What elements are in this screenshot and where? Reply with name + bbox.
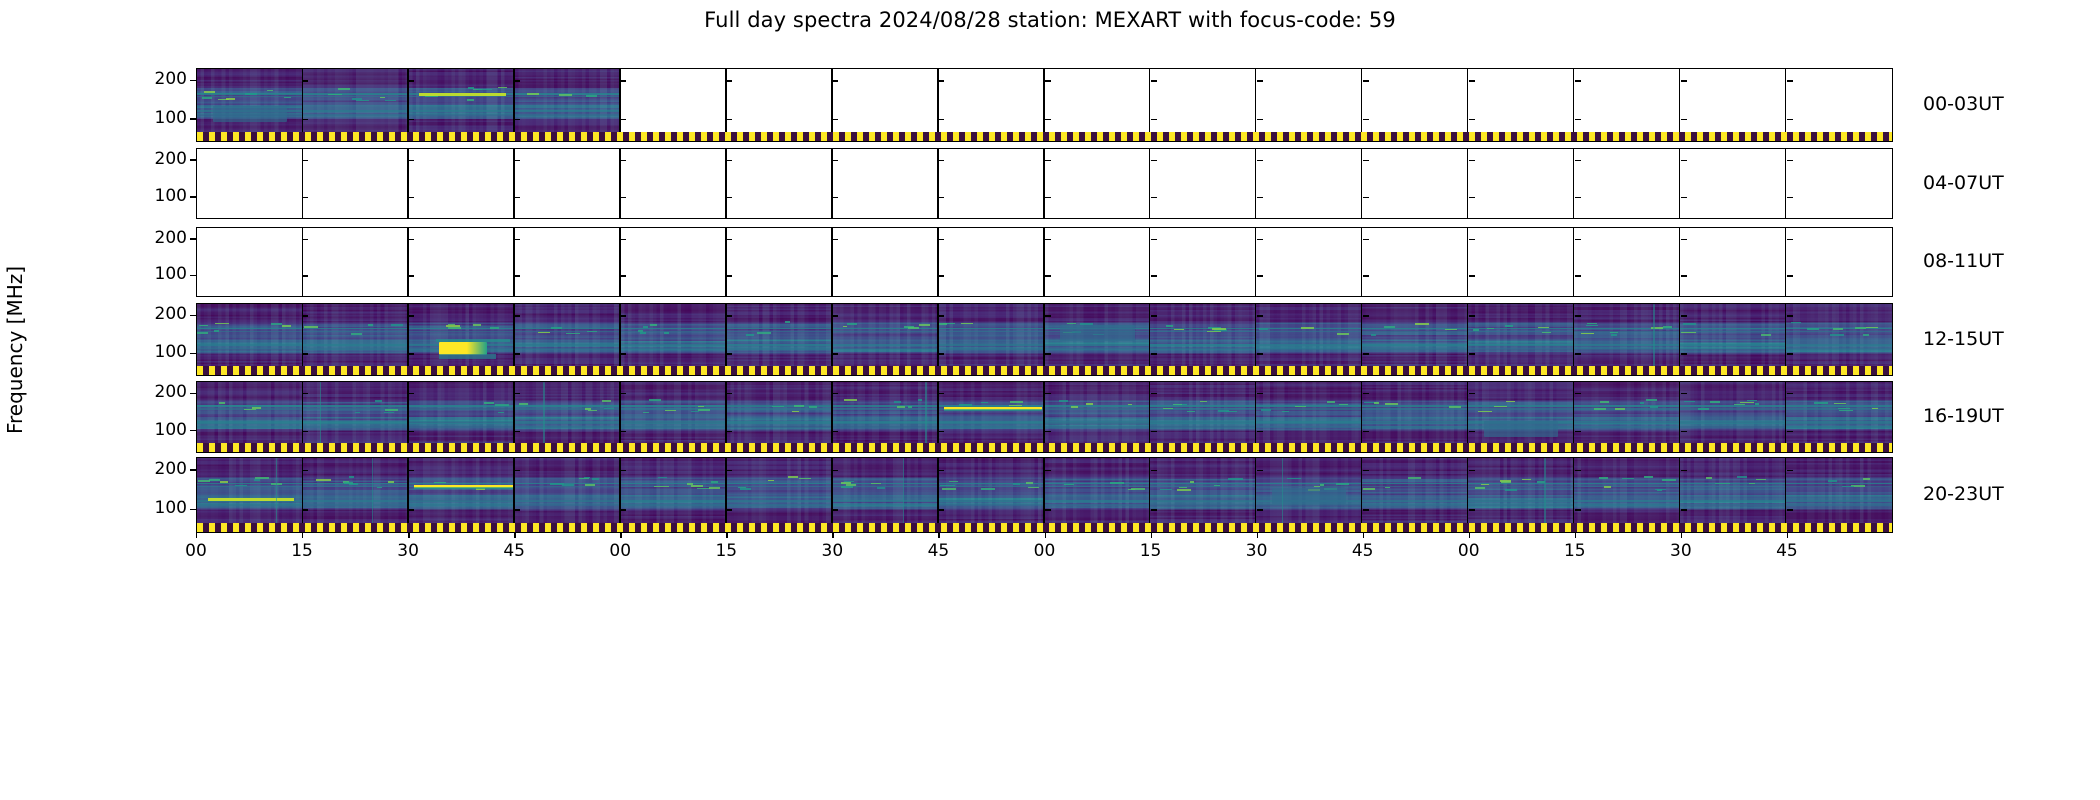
spectrogram-bands: [621, 304, 727, 375]
x-tick-label: 15: [1564, 541, 1586, 561]
segment-divider: [1679, 458, 1680, 532]
segment-divider: [513, 149, 514, 218]
row-frame: [196, 148, 1893, 219]
y-tick-mark-inner: [1151, 119, 1157, 120]
segment-divider: [937, 382, 938, 452]
spectrogram-bands: [939, 458, 1045, 532]
y-tick-mark-inner: [514, 160, 520, 161]
segment-divider: [513, 69, 514, 141]
spectrogram-bands: [303, 69, 409, 141]
y-tick-mark-inner: [726, 431, 732, 432]
spectrogram-bands: [1362, 382, 1468, 452]
y-tick-mark-inner: [1469, 275, 1475, 276]
y-tick-mark-inner: [1151, 431, 1157, 432]
spectrogram-segment[interactable]: [1574, 69, 1680, 141]
y-tick-mark-inner: [1045, 119, 1051, 120]
spectrogram-segment[interactable]: [1680, 382, 1786, 452]
y-tick-mark-inner: [1045, 509, 1051, 510]
spectrogram-segment[interactable]: [1786, 382, 1892, 452]
y-tick-mark-inner: [1151, 239, 1157, 240]
row-frame: [196, 227, 1893, 297]
y-tick-label: 200: [155, 149, 187, 169]
y-tick-mark-inner: [1681, 315, 1687, 316]
y-tick-mark-inner: [408, 160, 414, 161]
y-tick-mark-inner: [1575, 239, 1581, 240]
y-tick-mark-inner: [938, 509, 944, 510]
x-axis-tick: [832, 533, 833, 538]
spectrogram-segment[interactable]: [833, 228, 939, 296]
spectrogram-segment[interactable]: [409, 458, 515, 532]
segment-divider: [1149, 149, 1150, 218]
x-axis-tick: [620, 533, 621, 538]
spectrogram-segment[interactable]: [1362, 458, 1468, 532]
spectrogram-segment[interactable]: [515, 228, 621, 296]
spectrogram-segment[interactable]: [1045, 458, 1151, 532]
spectrogram-segment[interactable]: [1468, 228, 1574, 296]
y-tick-mark-inner: [408, 470, 414, 471]
spectrogram-segment[interactable]: [515, 304, 621, 375]
segment-divider: [513, 304, 514, 375]
spectrogram-bands: [1574, 382, 1680, 452]
spectrogram-segment[interactable]: [1786, 304, 1892, 375]
spectrogram-segment[interactable]: [1256, 382, 1362, 452]
y-tick-mark-inner: [302, 353, 308, 354]
y-tick-mark-inner: [1469, 80, 1475, 81]
y-tick-mark-inner: [938, 80, 944, 81]
spectrogram-bands: [1680, 304, 1786, 375]
row-time-label: 12-15UT: [1923, 328, 2004, 350]
spectrogram-segment[interactable]: [1680, 304, 1786, 375]
x-tick-label: 15: [1140, 541, 1162, 561]
y-tick-mark: [190, 315, 196, 316]
y-tick-mark-inner: [620, 353, 626, 354]
y-tick-mark-inner: [1151, 197, 1157, 198]
segment-divider: [1467, 458, 1468, 532]
y-tick-mark-inner: [1681, 239, 1687, 240]
spectrogram-segment[interactable]: [621, 458, 727, 532]
spectrogram-segment[interactable]: [409, 382, 515, 452]
y-tick-mark-inner: [1045, 275, 1051, 276]
y-tick-mark-inner: [832, 470, 838, 471]
y-tick-mark-inner: [726, 509, 732, 510]
y-tick-mark-inner: [620, 470, 626, 471]
y-tick-label: 100: [155, 498, 187, 518]
spectrogram-bands: [833, 382, 939, 452]
y-tick-mark-inner: [1151, 353, 1157, 354]
y-tick-mark-inner: [514, 119, 520, 120]
y-tick-mark-inner: [1257, 509, 1263, 510]
spectrogram-segment[interactable]: [833, 382, 939, 452]
y-tick-mark-inner: [1151, 80, 1157, 81]
y-tick-mark-inner: [1363, 393, 1369, 394]
spectrogram-segment[interactable]: [409, 149, 515, 218]
segment-divider: [1573, 382, 1574, 452]
spectrogram-segment[interactable]: [939, 458, 1045, 532]
spectrogram-segment[interactable]: [197, 304, 303, 375]
segment-divider: [619, 69, 620, 141]
spectrogram-segment[interactable]: [1680, 149, 1786, 218]
y-tick-mark-inner: [1469, 470, 1475, 471]
spectrogram-segment[interactable]: [303, 304, 409, 375]
y-tick-mark-inner: [1045, 353, 1051, 354]
y-tick-mark-inner: [1575, 470, 1581, 471]
y-tick-mark-inner: [1787, 470, 1793, 471]
spectrogram-segment[interactable]: [409, 228, 515, 296]
y-tick-mark: [190, 196, 196, 197]
y-tick-mark-inner: [514, 275, 520, 276]
spectrogram-segment[interactable]: [197, 69, 303, 141]
spectrogram-segment[interactable]: [1362, 149, 1468, 218]
y-tick-mark-inner: [1363, 431, 1369, 432]
spectrogram-segment[interactable]: [1256, 228, 1362, 296]
y-tick-mark: [190, 469, 196, 470]
y-tick-mark-inner: [1257, 315, 1263, 316]
spectrogram-segment[interactable]: [1786, 228, 1892, 296]
y-tick-mark-inner: [832, 393, 838, 394]
spectrogram-row-00-03ut[interactable]: 200100: [196, 68, 1893, 142]
x-axis-tick: [302, 533, 303, 538]
segment-divider: [513, 228, 514, 296]
spectrogram-segment[interactable]: [1468, 149, 1574, 218]
segment-divider: [1149, 458, 1150, 532]
x-axis-tick: [1363, 533, 1364, 538]
y-tick-mark-inner: [1363, 239, 1369, 240]
spectrogram-segment[interactable]: [833, 69, 939, 141]
segment-divider: [619, 458, 620, 532]
spectrogram-segment[interactable]: [1256, 69, 1362, 141]
spectrogram-bands: [197, 458, 303, 532]
spectrogram-bands: [409, 69, 515, 141]
segment-divider: [1573, 149, 1574, 218]
segment-divider: [1361, 458, 1362, 532]
spectrogram-segment[interactable]: [515, 382, 621, 452]
y-tick-mark-inner: [1363, 470, 1369, 471]
segment-divider: [725, 304, 726, 375]
y-tick-mark-inner: [938, 431, 944, 432]
spectrogram-segment[interactable]: [621, 69, 727, 141]
segment-divider: [1467, 382, 1468, 452]
y-tick-mark-inner: [1681, 393, 1687, 394]
spectrogram-row-16-19ut[interactable]: 200100: [196, 381, 1893, 453]
y-tick-mark-inner: [1469, 119, 1475, 120]
spectrogram-row-12-15ut[interactable]: 200100: [196, 303, 1893, 376]
segment-divider: [1467, 228, 1468, 296]
spectrogram-segment[interactable]: [303, 149, 409, 218]
y-tick-label: 200: [155, 459, 187, 479]
spectrogram-segment[interactable]: [197, 458, 303, 532]
spectrogram-bands: [1150, 382, 1256, 452]
spectrogram-segment[interactable]: [1362, 304, 1468, 375]
y-tick-mark: [190, 393, 196, 394]
y-tick-mark-inner: [408, 275, 414, 276]
spectrogram-segment[interactable]: [939, 149, 1045, 218]
x-tick-label: 15: [715, 541, 737, 561]
y-tick-mark-inner: [832, 80, 838, 81]
y-tick-mark-inner: [1045, 393, 1051, 394]
spectrogram-segment[interactable]: [1574, 228, 1680, 296]
spectrogram-row-08-11ut[interactable]: 200100: [196, 227, 1893, 297]
row-frame: [196, 457, 1893, 533]
spectrogram-segment[interactable]: [939, 69, 1045, 141]
spectrogram-segment[interactable]: [621, 382, 727, 452]
segment-divider: [407, 458, 408, 532]
y-axis-label: Frequency [MHz]: [0, 0, 30, 700]
y-tick-mark-inner: [302, 119, 308, 120]
x-axis-tick: [1681, 533, 1682, 538]
segment-divider: [1785, 382, 1786, 452]
x-tick-label: 30: [397, 541, 419, 561]
y-tick-mark-inner: [1045, 470, 1051, 471]
segment-divider: [1255, 149, 1256, 218]
spectrogram-segment[interactable]: [727, 228, 833, 296]
spectrogram-segment[interactable]: [727, 382, 833, 452]
spectrogram-segment[interactable]: [515, 149, 621, 218]
y-tick-mark-inner: [1469, 239, 1475, 240]
y-tick-mark-inner: [302, 470, 308, 471]
segment-divider: [725, 382, 726, 452]
y-tick-mark-inner: [726, 315, 732, 316]
y-tick-mark-inner: [1575, 80, 1581, 81]
spectrogram-segment[interactable]: [1574, 149, 1680, 218]
y-tick-mark-inner: [302, 239, 308, 240]
segment-divider: [831, 458, 832, 532]
spectrogram-bands: [303, 458, 409, 532]
y-tick-mark: [190, 238, 196, 239]
spectrogram-segment[interactable]: [1045, 382, 1151, 452]
spectrogram-segment[interactable]: [1468, 382, 1574, 452]
spectrogram-segment[interactable]: [727, 149, 833, 218]
y-tick-mark-inner: [832, 275, 838, 276]
spectrogram-segment[interactable]: [409, 69, 515, 141]
spectrogram-segment[interactable]: [1362, 382, 1468, 452]
spectrogram-bands: [1256, 458, 1362, 532]
y-tick-mark: [190, 159, 196, 160]
spectrogram-segment[interactable]: [1468, 458, 1574, 532]
spectrogram-segment[interactable]: [1045, 69, 1151, 141]
spectrogram-bands: [1786, 458, 1892, 532]
y-tick-mark-inner: [1681, 80, 1687, 81]
spectrogram-segment[interactable]: [1574, 382, 1680, 452]
segment-divider: [1573, 458, 1574, 532]
y-tick-mark-inner: [302, 160, 308, 161]
y-tick-mark-inner: [1257, 393, 1263, 394]
y-tick-mark-inner: [408, 315, 414, 316]
segment-divider: [1679, 382, 1680, 452]
y-tick-mark-inner: [1787, 239, 1793, 240]
y-tick-mark-inner: [726, 239, 732, 240]
y-tick-mark-inner: [1151, 160, 1157, 161]
spectrogram-segment[interactable]: [1362, 69, 1468, 141]
y-tick-mark-inner: [1257, 470, 1263, 471]
spectrogram-segment[interactable]: [833, 304, 939, 375]
y-tick-mark-inner: [302, 509, 308, 510]
x-axis-tick: [514, 533, 515, 538]
spectrogram-segment[interactable]: [197, 382, 303, 452]
y-tick-label: 100: [155, 264, 187, 284]
y-tick-mark-inner: [1469, 160, 1475, 161]
spectrogram-segment[interactable]: [1150, 69, 1256, 141]
segment-divider: [1467, 149, 1468, 218]
spectrogram-segment[interactable]: [727, 304, 833, 375]
y-tick-mark-inner: [1363, 353, 1369, 354]
spectrogram-segment[interactable]: [515, 458, 621, 532]
y-tick-mark-inner: [514, 197, 520, 198]
segment-divider: [1255, 228, 1256, 296]
spectrogram-segment[interactable]: [1150, 382, 1256, 452]
spectrogram-segment[interactable]: [833, 458, 939, 532]
spectrogram-bands: [515, 69, 621, 141]
x-tick-label: 45: [928, 541, 950, 561]
y-tick-mark-inner: [832, 197, 838, 198]
y-tick-mark-inner: [1151, 315, 1157, 316]
spectrogram-segment[interactable]: [303, 69, 409, 141]
segment-divider: [1785, 228, 1786, 296]
y-tick-mark: [190, 80, 196, 81]
y-tick-mark: [190, 430, 196, 431]
y-tick-mark-inner: [1575, 353, 1581, 354]
y-tick-mark-inner: [620, 119, 626, 120]
y-tick-mark-inner: [1257, 275, 1263, 276]
spectrogram-segment[interactable]: [1574, 458, 1680, 532]
segment-divider: [831, 304, 832, 375]
segment-divider: [1255, 304, 1256, 375]
spectrogram-segment[interactable]: [1045, 304, 1151, 375]
x-axis-tick: [938, 533, 939, 538]
spectrogram-segment[interactable]: [1256, 458, 1362, 532]
spectrogram-segment[interactable]: [1786, 149, 1892, 218]
segment-divider: [1149, 228, 1150, 296]
spectrogram-segment[interactable]: [303, 228, 409, 296]
segment-divider: [407, 69, 408, 141]
spectrogram-bands: [1256, 304, 1362, 375]
spectrogram-segment[interactable]: [409, 304, 515, 375]
y-tick-mark-inner: [938, 470, 944, 471]
segment-divider: [1467, 304, 1468, 375]
spectrogram-segment[interactable]: [197, 149, 303, 218]
spectrogram-segment[interactable]: [1574, 304, 1680, 375]
spectrogram-segment[interactable]: [939, 228, 1045, 296]
spectrogram-segment[interactable]: [1362, 228, 1468, 296]
segment-divider: [302, 69, 303, 141]
segment-divider: [1043, 382, 1044, 452]
spectrogram-segment[interactable]: [621, 149, 727, 218]
spectrogram-segment[interactable]: [1045, 149, 1151, 218]
spectrogram-segment[interactable]: [515, 69, 621, 141]
segment-divider: [831, 149, 832, 218]
spectrogram-segment[interactable]: [939, 382, 1045, 452]
spectrogram-bands: [939, 304, 1045, 375]
spectrogram-bands: [1574, 304, 1680, 375]
segment-divider: [1043, 304, 1044, 375]
spectrogram-segment[interactable]: [1150, 149, 1256, 218]
spectrogram-segment[interactable]: [1150, 458, 1256, 532]
y-tick-mark-inner: [1787, 353, 1793, 354]
spectrogram-segment[interactable]: [1468, 304, 1574, 375]
x-tick-label: 30: [822, 541, 844, 561]
spectrogram-segment[interactable]: [621, 304, 727, 375]
y-tick-label: 100: [155, 420, 187, 440]
spectrogram-segment[interactable]: [1680, 69, 1786, 141]
segment-divider: [1785, 69, 1786, 141]
segment-divider: [1785, 458, 1786, 532]
spectrogram-segment[interactable]: [1150, 228, 1256, 296]
y-tick-mark-inner: [620, 160, 626, 161]
y-tick-mark-inner: [1257, 239, 1263, 240]
spectrogram-segment[interactable]: [1150, 304, 1256, 375]
spectrogram-segment[interactable]: [303, 382, 409, 452]
spectrogram-segment[interactable]: [1045, 228, 1151, 296]
y-tick-mark-inner: [408, 393, 414, 394]
y-tick-mark-inner: [832, 431, 838, 432]
y-tick-mark-inner: [726, 470, 732, 471]
x-tick-label: 30: [1670, 541, 1692, 561]
y-tick-mark-inner: [408, 431, 414, 432]
spectrogram-segment[interactable]: [1256, 149, 1362, 218]
x-tick-label: 00: [1458, 541, 1480, 561]
y-tick-mark-inner: [1469, 431, 1475, 432]
spectrogram-segment[interactable]: [833, 149, 939, 218]
x-axis-tick: [1787, 533, 1788, 538]
spectrogram-segment[interactable]: [727, 458, 833, 532]
y-tick-mark-inner: [832, 160, 838, 161]
segment-divider: [1043, 149, 1044, 218]
segment-divider: [937, 69, 938, 141]
spectrogram-bands: [197, 382, 303, 452]
spectrogram-segment[interactable]: [1468, 69, 1574, 141]
spectrogram-bands: [515, 304, 621, 375]
spectrogram-segment[interactable]: [621, 228, 727, 296]
y-tick-mark-inner: [1363, 275, 1369, 276]
spectrogram-row-04-07ut[interactable]: 200100: [196, 148, 1893, 219]
y-tick-mark-inner: [514, 393, 520, 394]
y-tick-mark: [190, 353, 196, 354]
segment-divider: [619, 228, 620, 296]
spectrogram-bands: [939, 382, 1045, 452]
spectrogram-row-20-23ut[interactable]: 200100: [196, 457, 1893, 533]
y-tick-mark-inner: [726, 197, 732, 198]
y-tick-mark-inner: [1575, 275, 1581, 276]
spectrogram-segment[interactable]: [939, 304, 1045, 375]
segment-divider: [1785, 149, 1786, 218]
y-tick-mark-inner: [408, 353, 414, 354]
spectrogram-segment[interactable]: [1680, 458, 1786, 532]
spectrogram-bands: [1362, 458, 1468, 532]
y-axis-label-text: Frequency [MHz]: [3, 266, 27, 434]
spectrogram-bands: [197, 304, 303, 375]
spectrogram-bands: [409, 382, 515, 452]
y-tick-mark-inner: [1045, 197, 1051, 198]
segment-divider: [1361, 149, 1362, 218]
y-tick-mark-inner: [938, 353, 944, 354]
spectrogram-segment[interactable]: [303, 458, 409, 532]
spectrogram-segment[interactable]: [197, 228, 303, 296]
segment-divider: [407, 228, 408, 296]
spectrogram-segment[interactable]: [1680, 228, 1786, 296]
y-tick-mark-inner: [1575, 197, 1581, 198]
x-tick-label: 15: [291, 541, 313, 561]
spectrogram-segment[interactable]: [1256, 304, 1362, 375]
y-tick-mark-inner: [1787, 160, 1793, 161]
spectrogram-segment[interactable]: [1786, 69, 1892, 141]
y-tick-mark-inner: [832, 353, 838, 354]
segment-divider: [407, 149, 408, 218]
segment-divider: [1043, 228, 1044, 296]
x-axis-tick: [1151, 533, 1152, 538]
spectrogram-segment[interactable]: [1786, 458, 1892, 532]
segment-divider: [1467, 69, 1468, 141]
spectrogram-segment[interactable]: [727, 69, 833, 141]
y-tick-mark-inner: [514, 315, 520, 316]
